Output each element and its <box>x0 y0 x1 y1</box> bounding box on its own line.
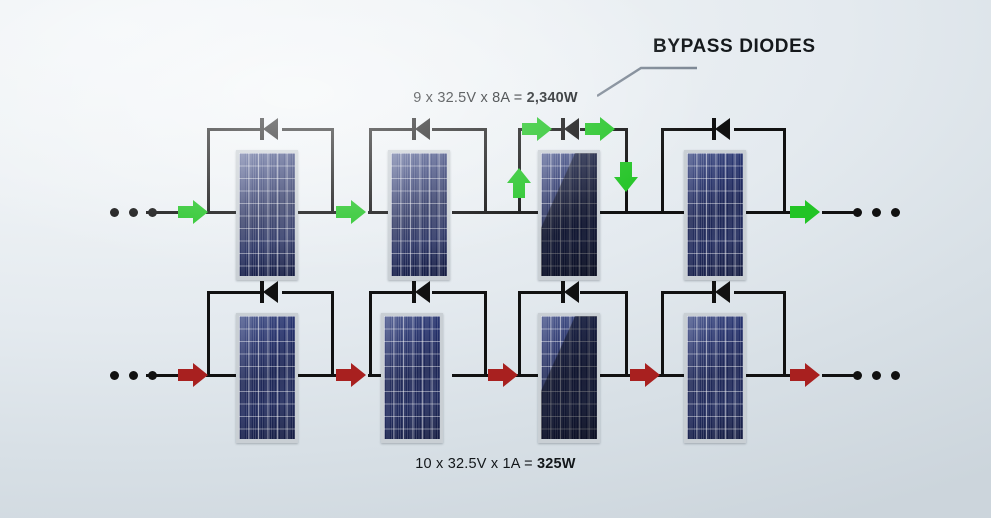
bottom-equation-result: 325W <box>537 456 576 472</box>
bottom-bypass-2-top-left <box>369 291 414 294</box>
bottom-bypass-3-top-left <box>518 291 563 294</box>
solar-panel-top-4[interactable] <box>684 150 746 280</box>
bottom-row-wire-lead-left <box>146 374 182 377</box>
bottom-bypass-1-right-riser <box>331 291 334 377</box>
solar-panel-bottom-4[interactable] <box>684 313 746 443</box>
top-bypass-2-top-right <box>432 128 487 131</box>
bottom-bypass-2-right-riser <box>484 291 487 377</box>
top-row-equation: 9 x 32.5V x 8A = 2,340W <box>0 90 991 106</box>
top-equation-prefix: 9 x 32.5V x 8A = <box>413 90 526 106</box>
bottom-bypass-2-top-right <box>432 291 487 294</box>
bypass-diode-bottom-4 <box>712 281 732 303</box>
bottom-row-equation: 10 x 32.5V x 1A = 325W <box>0 456 991 472</box>
top-equation-result: 2,340W <box>527 90 578 106</box>
bottom-bypass-3-right-riser <box>625 291 628 377</box>
solar-panel-top-2[interactable] <box>388 150 450 280</box>
solar-panel-bottom-3-shaded[interactable] <box>538 313 600 443</box>
bypass-diodes-callout-label: BYPASS DIODES <box>653 36 816 58</box>
top-bypass-4-top-right <box>734 128 786 131</box>
bypass-diode-top-3 <box>561 118 581 140</box>
top-bypass-2-right-riser <box>484 128 487 214</box>
bypass-diode-bottom-3 <box>561 281 581 303</box>
bottom-equation-prefix: 10 x 32.5V x 1A = <box>415 456 537 472</box>
bottom-row-right-ellipsis <box>853 371 900 380</box>
bottom-bypass-4-top-right <box>734 291 786 294</box>
bottom-bypass-1-top-right <box>282 291 334 294</box>
solar-panel-top-1[interactable] <box>236 150 298 280</box>
top-bypass-4-right-riser <box>783 128 786 214</box>
bottom-bypass-3-left-riser <box>518 291 521 377</box>
solar-panel-bottom-1[interactable] <box>236 313 298 443</box>
bypass-diode-bottom-2 <box>412 281 432 303</box>
top-bypass-1-top-right <box>282 128 334 131</box>
top-row-right-ellipsis <box>853 208 900 217</box>
solar-panel-top-3-shaded[interactable] <box>538 150 600 280</box>
bypass-diode-top-4 <box>712 118 732 140</box>
bottom-bypass-2-left-riser <box>369 291 372 377</box>
top-bypass-4-left-riser <box>661 128 664 214</box>
bottom-bypass-4-left-riser <box>661 291 664 377</box>
bottom-bypass-3-top-right <box>580 291 628 294</box>
top-bypass-1-top-left <box>207 128 262 131</box>
bypass-diode-top-2 <box>412 118 432 140</box>
diagram-canvas: BYPASS DIODES 9 x 32.5V x 8A = 2,340W 10… <box>0 0 991 518</box>
bottom-bypass-1-top-left <box>207 291 262 294</box>
top-row-wire-segment-6 <box>600 211 668 214</box>
top-bypass-1-right-riser <box>331 128 334 214</box>
bottom-bypass-4-top-left <box>661 291 714 294</box>
top-bypass-2-top-left <box>369 128 414 131</box>
top-row-wire-lead-left <box>146 211 182 214</box>
bypass-diode-bottom-1 <box>260 281 280 303</box>
solar-panel-bottom-2[interactable] <box>381 313 443 443</box>
bypass-diode-top-1 <box>260 118 280 140</box>
top-bypass-4-top-left <box>661 128 714 131</box>
top-bypass-2-left-riser <box>369 128 372 214</box>
bottom-bypass-4-right-riser <box>783 291 786 377</box>
